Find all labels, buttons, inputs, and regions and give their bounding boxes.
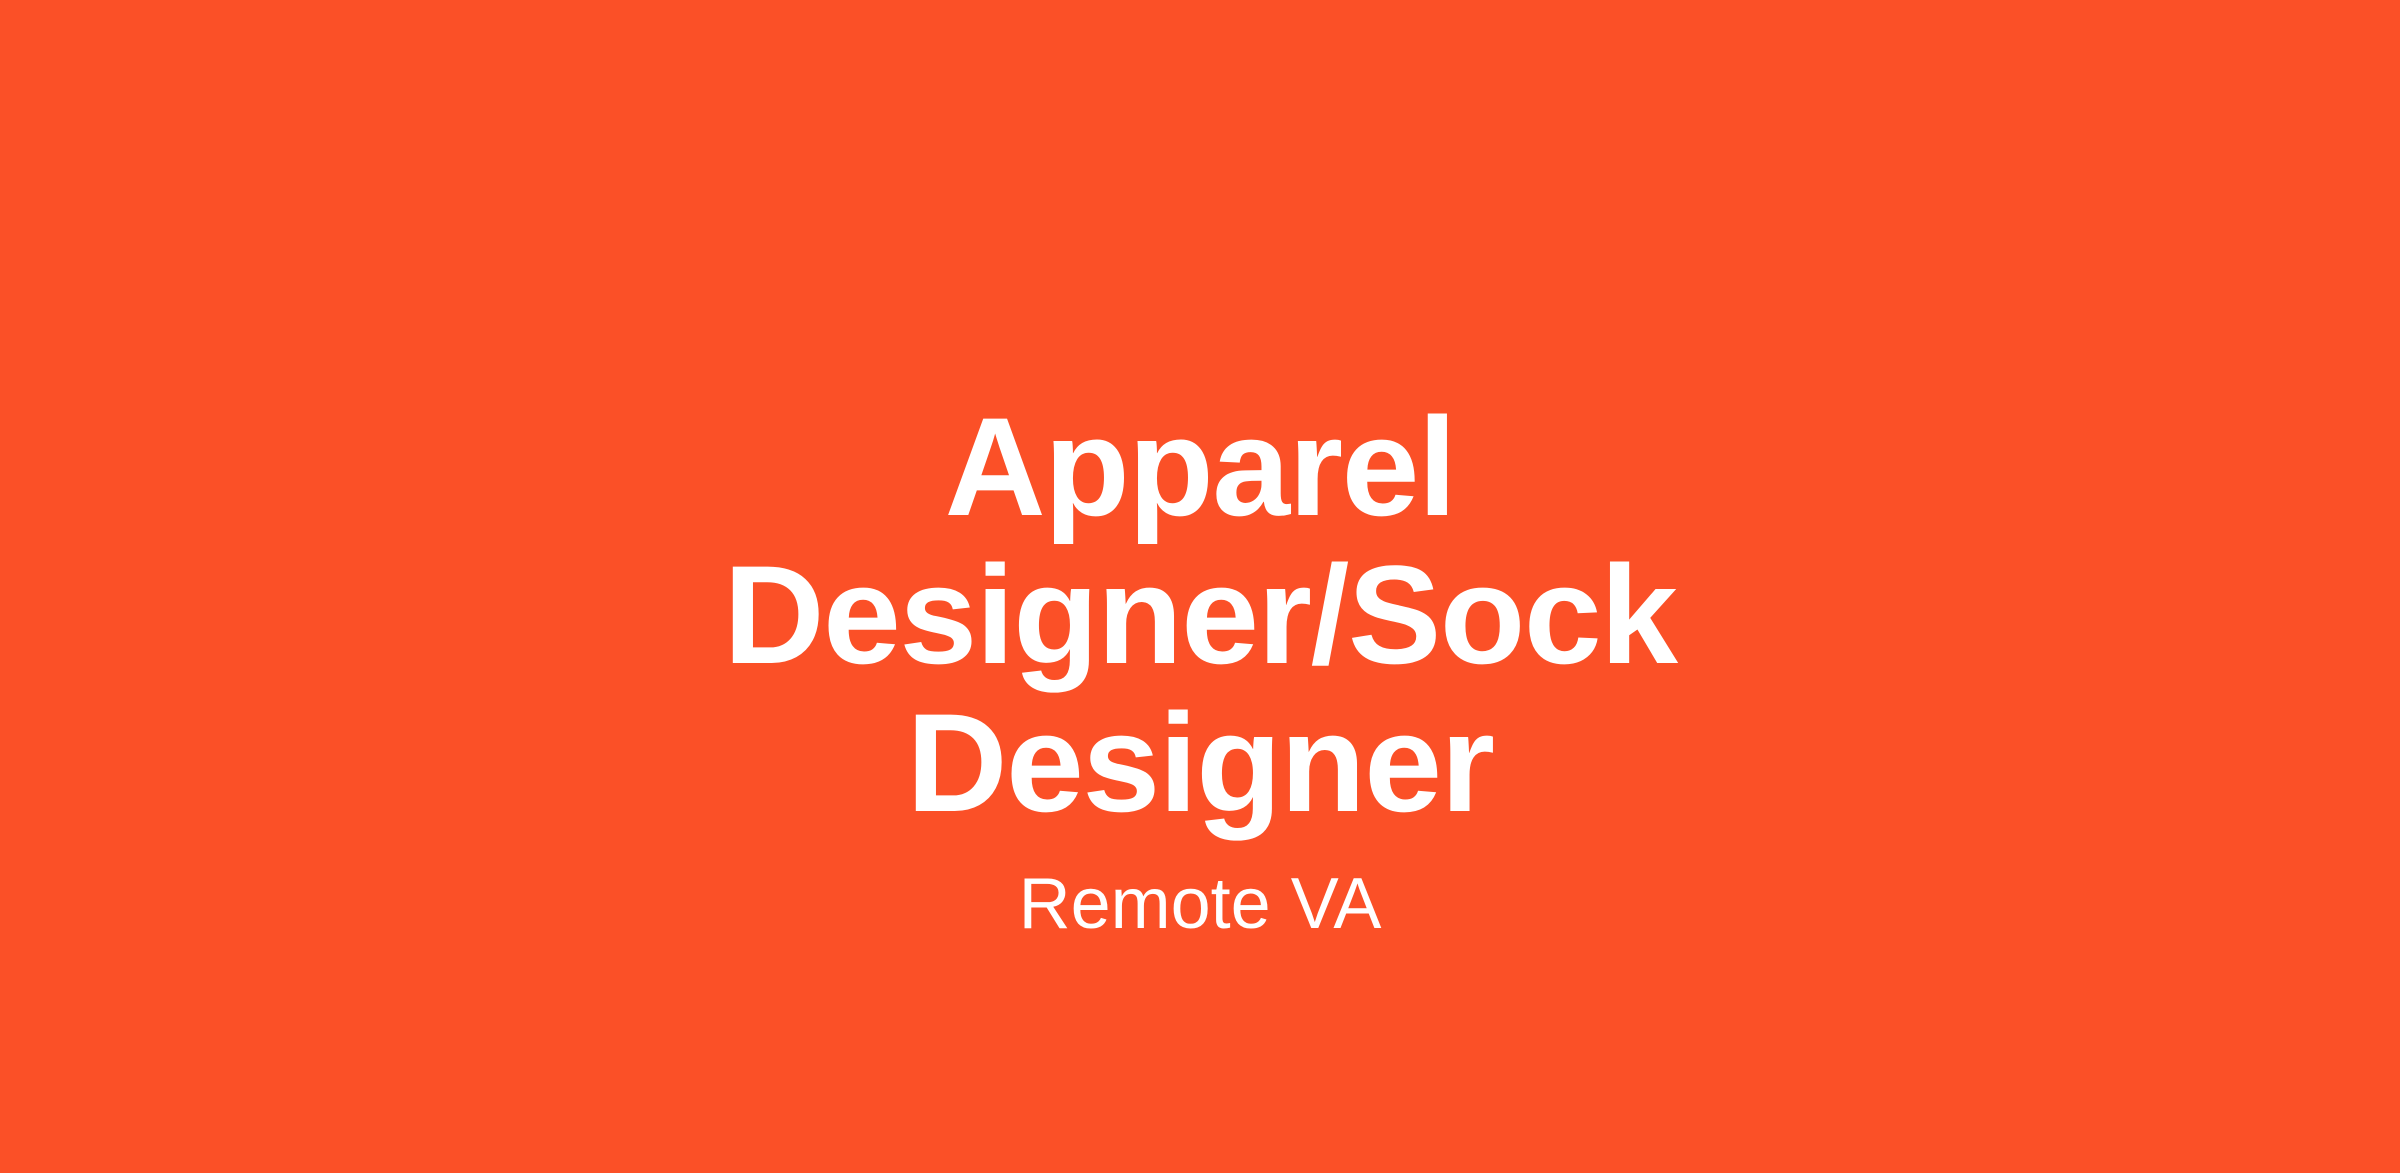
job-posting-banner: Apparel Designer/Sock Designer Remote VA bbox=[0, 0, 2400, 1173]
job-title: Apparel Designer/Sock Designer bbox=[500, 393, 1900, 837]
banner-content: Apparel Designer/Sock Designer Remote VA bbox=[490, 393, 1910, 947]
job-location: Remote VA bbox=[1019, 861, 1382, 947]
